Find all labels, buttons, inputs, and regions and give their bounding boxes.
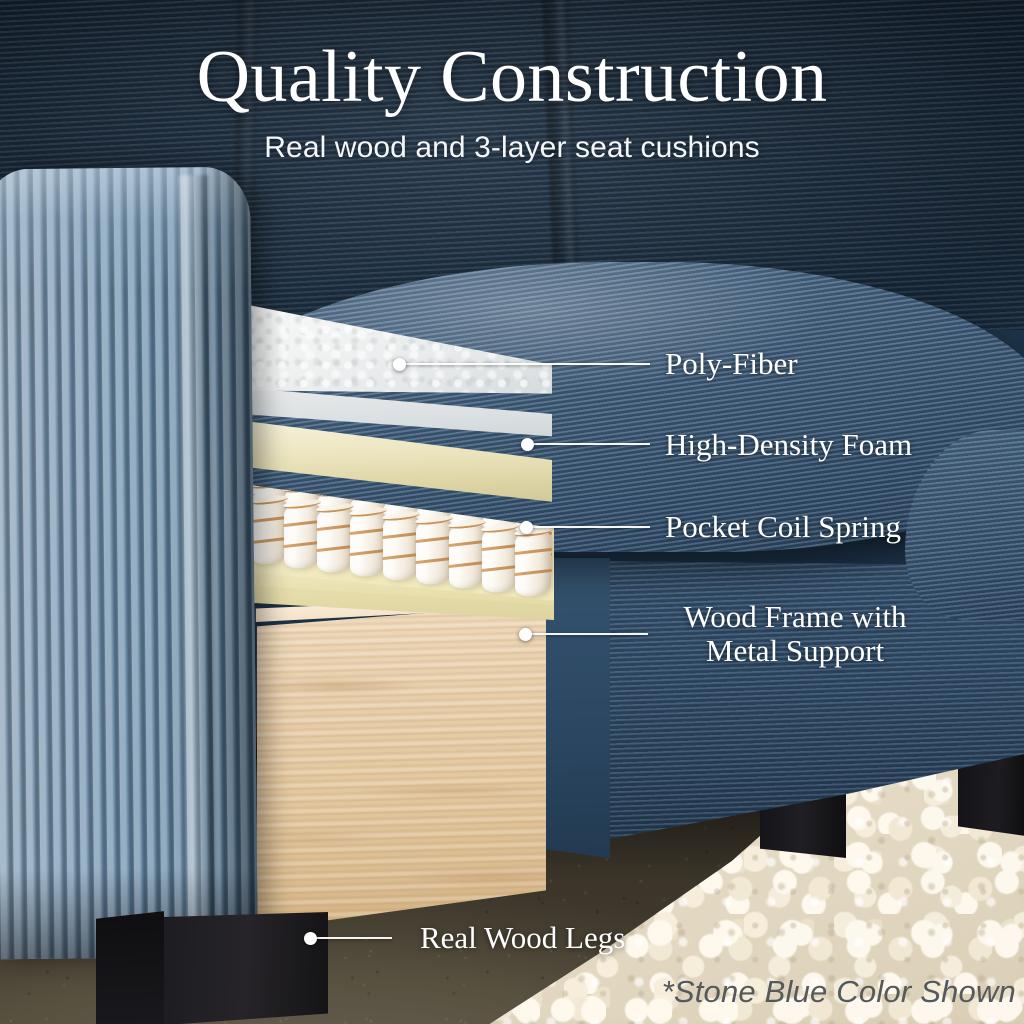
pocket-coil-cap — [382, 494, 420, 506]
page-subtitle: Real wood and 3-layer seat cushions — [0, 131, 1024, 165]
cushion-cutaway-diagram — [212, 288, 552, 638]
pocket-coil-cap — [481, 506, 519, 518]
wood-frame-block — [248, 600, 546, 930]
page-title: Quality Construction — [0, 40, 1024, 114]
pocket-coil — [515, 528, 551, 598]
sofa-arm — [0, 167, 258, 960]
arm-right-shadow — [198, 167, 258, 958]
pocket-coil — [350, 508, 386, 578]
wood-grain-figure — [248, 600, 546, 930]
pocket-coil-cap — [250, 478, 288, 490]
pocket-coil — [317, 504, 353, 574]
pocket-coil-cap — [448, 502, 486, 514]
pocket-coil-cap — [316, 486, 354, 498]
pocket-coil — [482, 524, 518, 594]
pocket-coil — [416, 516, 452, 586]
pocket-coil-cap — [283, 482, 321, 494]
pocket-coil — [284, 500, 320, 570]
pocket-coil — [383, 512, 419, 582]
pocket-coil-cap — [514, 510, 552, 522]
pocket-coil-cap — [415, 498, 453, 510]
sofa-leg-left-face — [96, 906, 164, 1024]
pocket-coil — [449, 520, 485, 590]
infographic-canvas: Quality Construction Real wood and 3-lay… — [0, 0, 1024, 1024]
color-footnote: *Stone Blue Color Shown — [662, 974, 1016, 1010]
pocket-coil-cap — [349, 490, 387, 502]
pocket-coil — [251, 496, 287, 566]
